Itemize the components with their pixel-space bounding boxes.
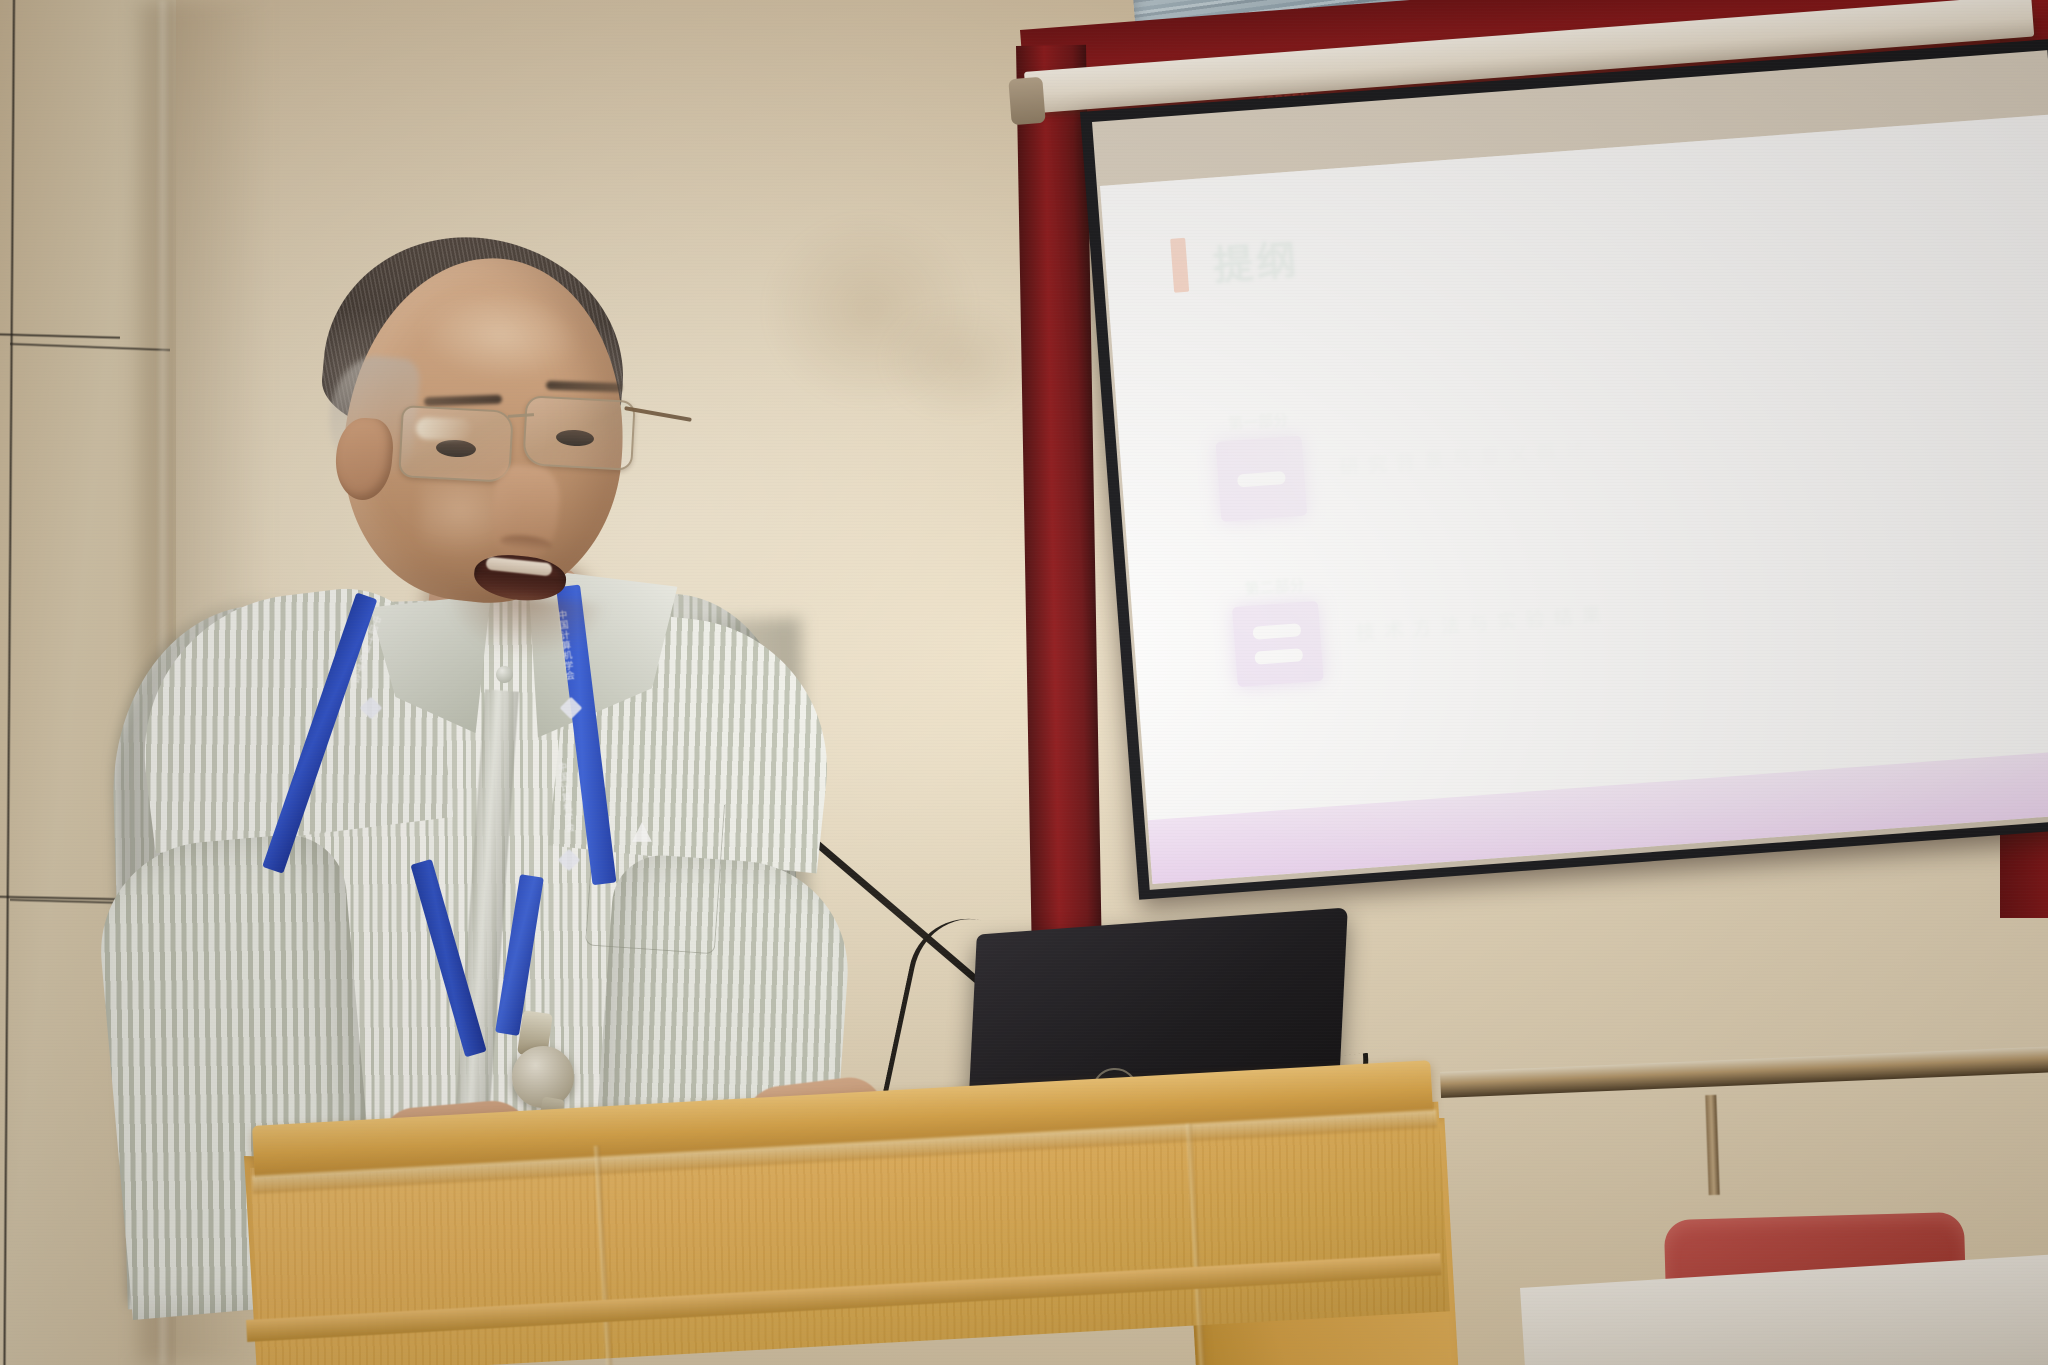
photo-scene: SCREEN 提纲 第一部分 研 究 背 景 与 意 义 概 述 第二部分: [0, 0, 2048, 1365]
forehead-highlight: [416, 282, 585, 388]
lens-reflection: [416, 417, 473, 441]
eyeglasses-lens-left: [398, 405, 514, 483]
eyeglasses-lens-right: [522, 395, 636, 471]
